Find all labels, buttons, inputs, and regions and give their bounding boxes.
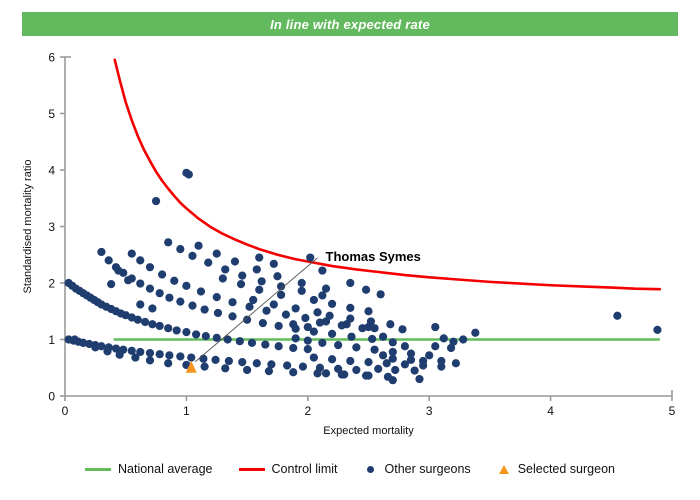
surgeon-point [258,277,266,285]
surgeon-point [389,355,397,363]
surgeon-point [146,285,154,293]
surgeon-point [346,304,354,312]
surgeon-point [398,325,406,333]
surgeon-point [283,361,291,369]
legend-item-label: Other surgeons [385,462,471,476]
surgeon-point [299,363,307,371]
surgeon-point [270,260,278,268]
x-tick-label: 1 [183,404,190,418]
surgeon-point [236,337,244,345]
surgeon-point [347,333,355,341]
surgeon-point [165,294,173,302]
surgeon-point [386,320,394,328]
surgeon-point [362,286,370,294]
surgeon-point [374,365,382,373]
surgeon-point [170,277,178,285]
surgeon-point [440,334,448,342]
surgeon-point [221,265,229,273]
legend-control-limit: Control limit [239,462,338,476]
surgeon-point [152,197,160,205]
legend-item-label: National average [118,462,213,476]
surgeon-point [379,333,387,341]
surgeon-point [328,300,336,308]
surgeon-point [187,353,195,361]
x-tick-label: 0 [62,404,69,418]
surgeon-point [306,253,314,261]
legend-triangle-swatch-icon [497,463,511,475]
annotation-layer: Thomas Symes [195,249,421,362]
surgeon-point [370,346,378,354]
surgeon-point [425,351,433,359]
surgeon-point [270,300,278,308]
surgeon-point [146,356,154,364]
surgeon-point [346,279,354,287]
surgeon-point [368,335,376,343]
surgeon-point [313,308,321,316]
surgeon-point [192,330,200,338]
surgeon-point [248,339,256,347]
surgeon-point [103,347,111,355]
surgeon-point [128,250,136,258]
legend-line-swatch-icon [239,463,265,475]
surgeon-point [146,349,154,357]
surgeon-point [415,375,423,383]
surgeon-point [318,339,326,347]
surgeon-point [107,280,115,288]
surgeon-point [262,307,270,315]
surgeon-point [213,250,221,258]
surgeon-point [134,316,142,324]
legend-dot-swatch-icon [364,463,378,475]
surgeon-point [182,328,190,336]
surgeon-point [298,287,306,295]
surgeon-point [97,248,105,256]
surgeon-point [411,366,419,374]
x-tick-label: 5 [669,404,676,418]
legend-other-surgeons: Other surgeons [364,462,471,476]
surgeon-point [238,272,246,280]
surgeon-point [243,366,251,374]
surgeon-point [116,351,124,359]
surgeon-point [352,366,360,374]
surgeon-point [91,343,99,351]
surgeon-point [346,357,354,365]
axis-labels-layer: 0123456012345Expected mortalityStandardi… [22,51,676,438]
surgeon-point [211,356,219,364]
surgeon-point [316,318,324,326]
surgeon-point [136,279,144,287]
surgeon-point [231,257,239,265]
surgeon-point [313,369,321,377]
surgeon-point [370,324,378,332]
surgeon-point [452,359,460,367]
surgeon-point [214,309,222,317]
surgeon-point [188,302,196,310]
legend-selected-surgeon: Selected surgeon [497,462,615,476]
y-tick-label: 5 [48,107,55,121]
surgeon-point [249,296,257,304]
surgeon-point [377,290,385,298]
funnel-plot-page: In line with expected rate Thomas Symes … [0,0,700,500]
surgeon-point [176,245,184,253]
surgeon-point [164,359,172,367]
surgeon-point [71,335,79,343]
surgeon-point [362,372,370,380]
surgeon-point [431,323,439,331]
surgeon-point [379,351,387,359]
surgeon-point [197,287,205,295]
surgeon-point [219,274,227,282]
surgeon-point [202,332,210,340]
surgeon-point [407,356,415,364]
surgeon-point [253,265,261,273]
surgeon-point [201,363,209,371]
y-tick-label: 3 [48,220,55,234]
surgeon-point [401,342,409,350]
surgeon-point [141,318,149,326]
scatter-points-layer [65,169,662,385]
surgeon-point [613,312,621,320]
surgeon-point [326,312,334,320]
surgeon-point [164,238,172,246]
legend-line-swatch-icon [85,463,111,475]
x-tick-label: 3 [426,404,433,418]
surgeon-point [213,293,221,301]
surgeon-point [136,256,144,264]
surgeon-point [437,357,445,365]
surgeon-point [304,345,312,353]
surgeon-point [228,312,236,320]
surgeon-point [79,339,87,347]
surgeon-point [156,289,164,297]
funnel-plot-svg: Thomas Symes 0123456012345Expected morta… [0,0,700,500]
surgeon-point [259,319,267,327]
surgeon-point [146,263,154,271]
y-tick-label: 4 [48,164,55,178]
surgeon-point [389,376,397,384]
surgeon-point [459,335,467,343]
surgeon-point [447,344,455,352]
surgeon-point [352,343,360,351]
y-axis-title: Standardised mortality ratio [22,160,34,294]
surgeon-point [237,280,245,288]
surgeon-point [364,358,372,366]
surgeon-point [176,298,184,306]
surgeon-point [301,314,309,322]
chart-legend: National averageControl limitOther surge… [0,455,700,483]
surgeon-point [391,366,399,374]
surgeon-point [199,355,207,363]
surgeon-point [124,276,132,284]
surgeon-point [182,282,190,290]
surgeon-point [653,326,661,334]
surgeon-point [158,270,166,278]
surgeon-point [156,322,164,330]
legend-national-average: National average [85,462,213,476]
legend-item-label: Control limit [272,462,338,476]
surgeon-point [275,342,283,350]
surgeon-point [346,314,354,322]
surgeon-point [148,320,156,328]
surgeon-point [389,338,397,346]
surgeon-point [289,368,297,376]
y-tick-label: 6 [48,51,55,65]
surgeon-point [165,351,173,359]
surgeon-point [273,272,281,280]
surgeon-point [328,355,336,363]
surgeon-point [358,324,366,332]
annotation-label: Thomas Symes [326,249,421,264]
surgeon-point [228,298,236,306]
surgeon-point [292,304,300,312]
surgeon-point [164,324,172,332]
surgeon-point [275,322,283,330]
surgeon-point [338,321,346,329]
surgeon-point [431,342,439,350]
surgeon-point [255,253,263,261]
surgeon-point [194,242,202,250]
surgeon-point [238,358,246,366]
surgeon-point [204,259,212,267]
surgeon-point [282,311,290,319]
surgeon-point [310,296,318,304]
surgeon-point [221,364,229,372]
surgeon-point [176,352,184,360]
x-axis-title: Expected mortality [323,425,414,437]
surgeon-point [131,353,139,361]
surgeon-point [334,341,342,349]
surgeon-point [255,286,263,294]
surgeon-point [148,304,156,312]
surgeon-point [265,367,273,375]
surgeon-point [322,285,330,293]
surgeon-point [289,344,297,352]
surgeon-point [298,279,306,287]
surgeon-point [156,350,164,358]
chart-container: Thomas Symes 0123456012345Expected morta… [0,0,700,500]
surgeon-point [304,323,312,331]
surgeon-point [304,337,312,345]
x-tick-label: 2 [304,404,311,418]
surgeon-point [277,291,285,299]
surgeon-point [310,353,318,361]
surgeon-point [471,329,479,337]
surgeon-point [225,357,233,365]
surgeon-point [201,305,209,313]
surgeon-point [114,266,122,274]
y-tick-label: 2 [48,277,55,291]
y-tick-label: 1 [48,333,55,347]
surgeon-point [328,330,336,338]
surgeon-point [136,300,144,308]
surgeon-point [364,307,372,315]
surgeon-point [322,369,330,377]
surgeon-point [419,357,427,365]
surgeon-point [188,252,196,260]
x-tick-label: 4 [547,404,554,418]
y-tick-label: 0 [48,390,55,404]
surgeon-point [318,266,326,274]
surgeon-point [185,170,193,178]
surgeon-point [289,320,297,328]
surgeon-point [253,359,261,367]
legend-item-label: Selected surgeon [518,462,615,476]
surgeon-point [292,334,300,342]
surgeon-point [340,370,348,378]
surgeon-point [173,326,181,334]
surgeon-point [261,340,269,348]
surgeon-point [105,256,113,264]
